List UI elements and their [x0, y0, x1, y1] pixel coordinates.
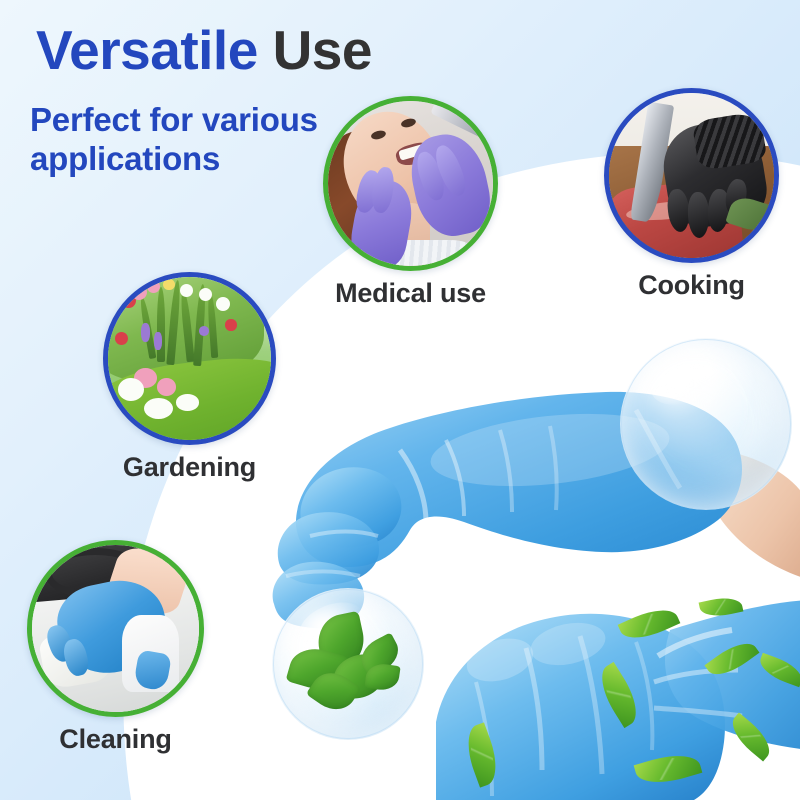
feature-medical-label: Medical use [323, 278, 498, 309]
gardening-photo-art [108, 277, 271, 440]
headline-word-primary: Versatile [36, 19, 258, 81]
bubble-clear [620, 338, 792, 510]
feature-gardening[interactable]: Gardening [103, 272, 276, 483]
feature-cleaning-label: Cleaning [27, 724, 204, 755]
cleaning-photo-art [32, 545, 199, 712]
feature-gardening-image [103, 272, 276, 445]
mint-sprig-icon [272, 588, 424, 740]
feature-cooking-image [604, 88, 779, 263]
medical-photo-art [328, 101, 493, 266]
cooking-photo-art [609, 93, 774, 258]
feature-cleaning-image [27, 540, 204, 717]
feature-cooking-label: Cooking [604, 270, 779, 301]
feature-gardening-label: Gardening [103, 452, 276, 483]
subtitle-line-2: applications [30, 140, 370, 179]
bubble-mint [272, 588, 424, 740]
headline-word-secondary: Use [273, 19, 372, 81]
feature-medical[interactable]: Medical use [323, 96, 498, 309]
poster-canvas: Versatile Use Perfect for various applic… [0, 0, 800, 800]
page-subtitle: Perfect for various applications [30, 101, 370, 179]
feature-cooking[interactable]: Cooking [604, 88, 779, 301]
feature-medical-image [323, 96, 498, 271]
page-title: Versatile Use [36, 22, 372, 80]
feature-cleaning[interactable]: Cleaning [27, 540, 204, 755]
subtitle-line-1: Perfect for various [30, 101, 370, 140]
